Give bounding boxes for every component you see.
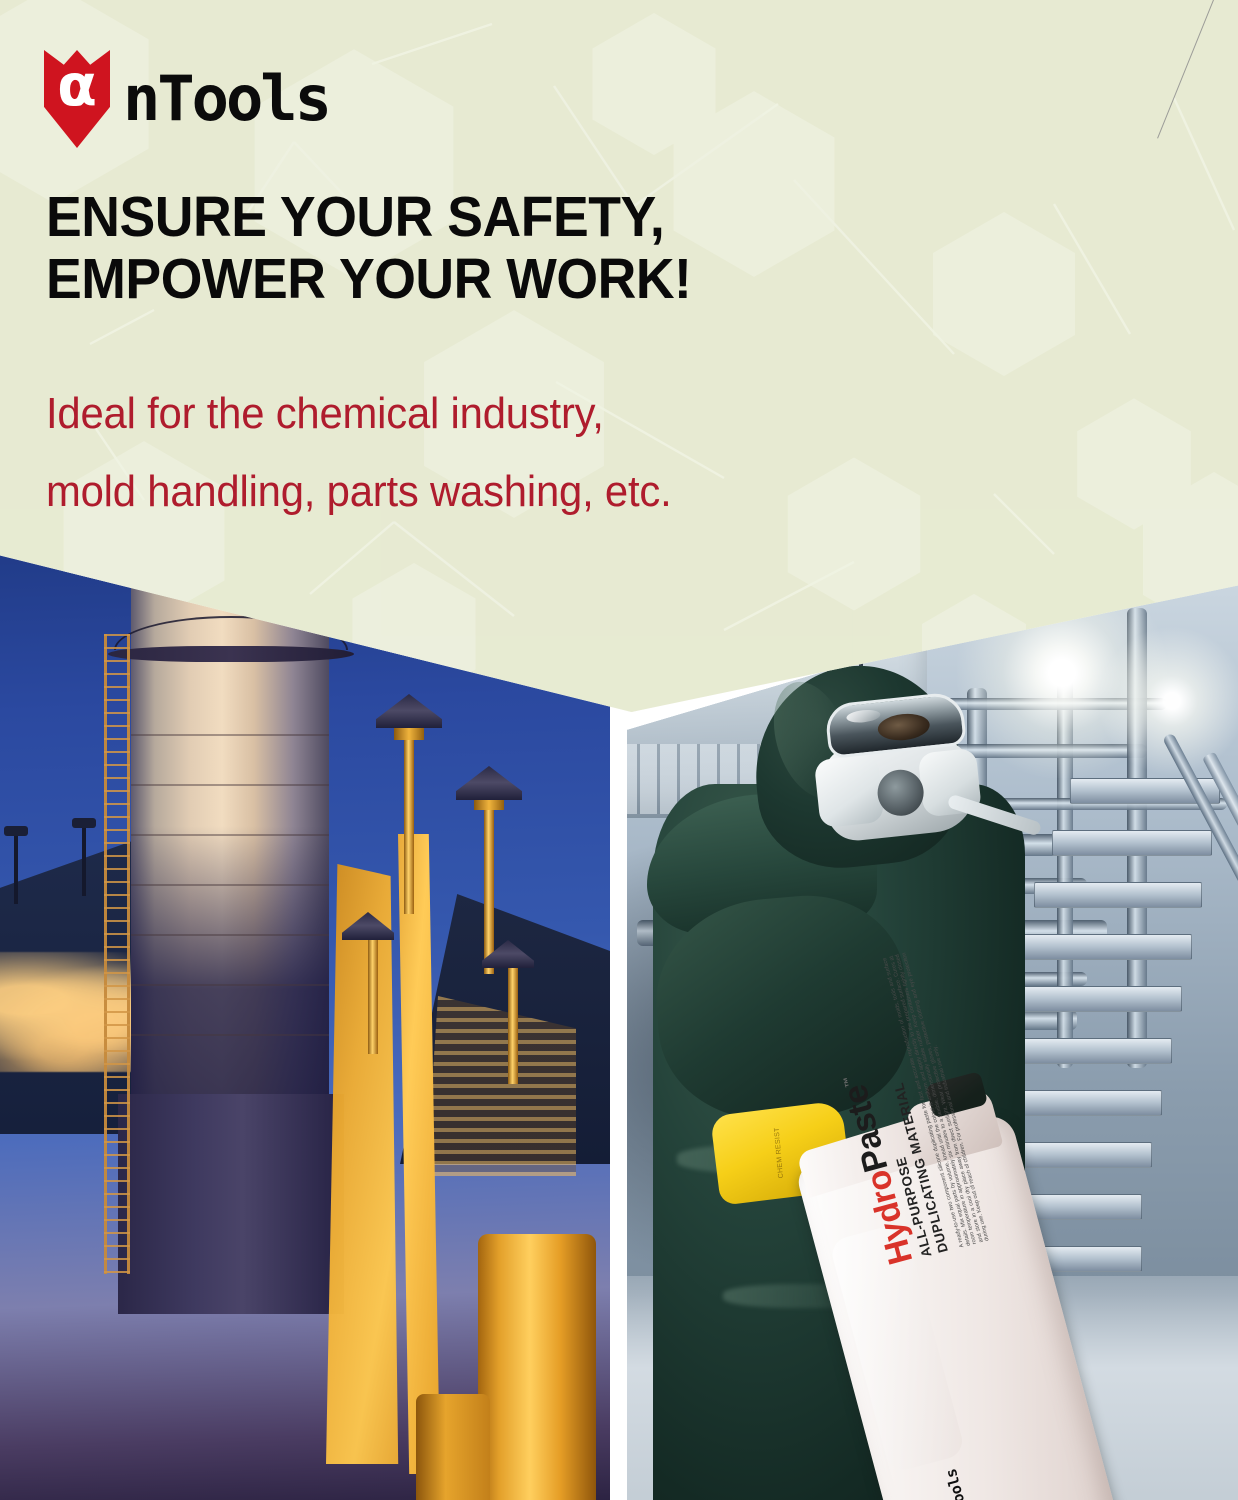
flood-lamp — [82, 826, 86, 896]
flood-lamp — [14, 834, 18, 904]
vent-stack — [368, 934, 378, 1054]
headline-line-1: ENSURE YOUR SAFETY, — [46, 186, 892, 248]
subline-line-2: mold handling, parts washing, etc. — [46, 453, 901, 531]
marketing-poster: CHEM RESIST HydroPaste™ ALL-PURPOSE DUPL… — [0, 0, 1238, 1500]
subline-line-1: Ideal for the chemical industry, — [46, 375, 901, 453]
vent-stack — [404, 734, 414, 914]
worker-eye — [877, 711, 931, 742]
process-vessel — [416, 1394, 490, 1500]
vent-stack — [508, 964, 518, 1084]
alpha-symbol: α — [44, 56, 110, 114]
stack-access-ladder — [104, 634, 130, 1274]
stack-top-platform — [108, 646, 354, 662]
page-headline: ENSURE YOUR SAFETY, EMPOWER YOUR WORK! — [46, 186, 892, 310]
stack-base-skirt — [118, 1094, 344, 1314]
vent-stack — [484, 804, 494, 974]
brand-logo: α nTools — [44, 50, 329, 148]
brand-wordmark: nTools — [123, 68, 329, 130]
page-subheadline: Ideal for the chemical industry, mold ha… — [46, 375, 901, 531]
respirator-mask — [816, 691, 978, 846]
process-vessel — [478, 1234, 596, 1500]
respirator-filter-cartridge — [814, 754, 885, 828]
headline-line-2: EMPOWER YOUR WORK! — [46, 248, 892, 310]
shield-icon: α — [44, 50, 110, 148]
